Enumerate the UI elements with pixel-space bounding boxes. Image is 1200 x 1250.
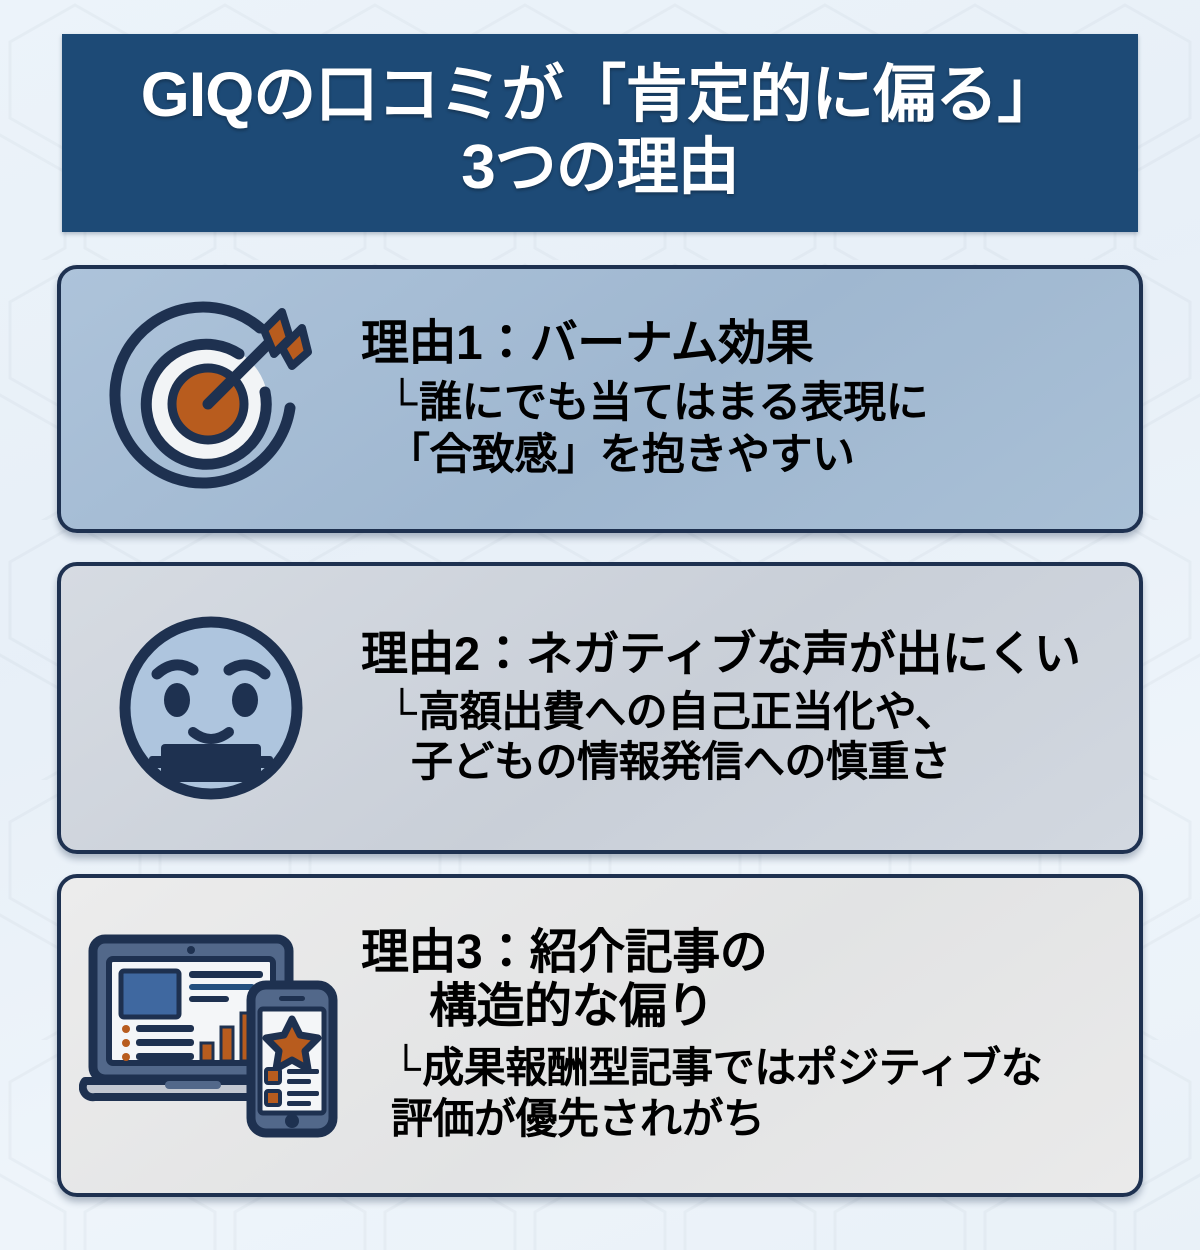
reason-card-2: 理由2：ネガティブな声が出にくい └高額出費への自己正当化や、 子どもの情報発信… (57, 562, 1143, 854)
reason-card-3-subtext: └成果報酬型記事ではポジティブな 評価が優先されがち (361, 1043, 1113, 1145)
reason-card-2-sub-line-2: 子どもの情報発信への慎重さ (387, 737, 1113, 788)
laptop-phone-review-icon (61, 931, 361, 1141)
reason-card-2-sub-line-1: 高額出費への自己正当化や、 (418, 688, 956, 735)
reason-card-2-heading: 理由2：ネガティブな声が出にくい (361, 628, 1113, 681)
reason-card-3-sub-line-2: 評価が優先されがち (391, 1094, 1113, 1145)
page-title-line-1: GIQの口コミが「肯定的に偏る」 (141, 62, 1060, 129)
reason-card-1-subtext: └誰にでも当てはまる表現に 「合致感」を抱きやすい (361, 377, 1113, 481)
reason-card-1: 理由1：バーナム効果 └誰にでも当てはまる表現に 「合致感」を抱きやすい (57, 265, 1143, 533)
reason-card-1-heading: 理由1：バーナム効果 (361, 317, 1113, 371)
corner-bullet-marker: └ (391, 1043, 420, 1094)
page-title-line-2: 3つの理由 (461, 135, 738, 201)
silenced-face-icon (61, 610, 361, 806)
page-title-banner: GIQの口コミが「肯定的に偏る」 3つの理由 (62, 34, 1138, 232)
reason-card-1-sub-line-1: 誰にでも当てはまる表現に (419, 379, 928, 427)
corner-bullet-marker: └ (387, 377, 417, 429)
target-arrow-icon (61, 292, 361, 506)
reason-card-3-heading: 理由3：紹介記事の (361, 926, 1113, 980)
reason-card-3-sub-line-1: 成果報酬型記事ではポジティブな (422, 1044, 1042, 1091)
reason-card-1-sub-line-2: 「合致感」を抱きやすい (387, 429, 1113, 481)
reason-card-1-text: 理由1：バーナム効果 └誰にでも当てはまる表現に 「合致感」を抱きやすい (361, 317, 1139, 481)
corner-bullet-marker: └ (387, 687, 416, 738)
reason-card-3-text: 理由3：紹介記事の 構造的な偏り └成果報酬型記事ではポジティブな 評価が優先さ… (361, 926, 1139, 1145)
reason-card-2-subtext: └高額出費への自己正当化や、 子どもの情報発信への慎重さ (361, 687, 1113, 789)
reason-card-2-text: 理由2：ネガティブな声が出にくい └高額出費への自己正当化や、 子どもの情報発信… (361, 628, 1139, 788)
reason-card-3: 理由3：紹介記事の 構造的な偏り └成果報酬型記事ではポジティブな 評価が優先さ… (57, 874, 1143, 1197)
reason-card-3-heading-line-2: 構造的な偏り (361, 980, 1113, 1034)
